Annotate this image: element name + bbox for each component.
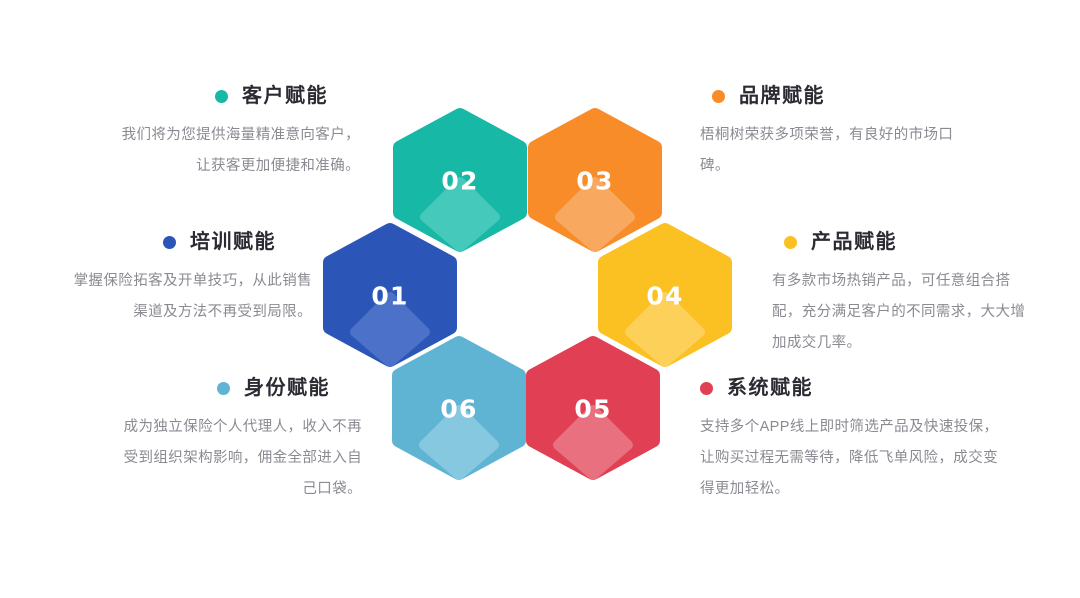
bullet-dot-icon-04 xyxy=(784,236,797,249)
hexagon-06[interactable]: 06 xyxy=(399,343,519,475)
bullet-dot-icon-03 xyxy=(712,90,725,103)
hexagon-01[interactable]: 01 xyxy=(330,230,450,362)
item-heading-05: 系统赋能 xyxy=(700,378,1000,398)
item-block-05: 系统赋能 支持多个APP线上即时筛选产品及快速投保，让购买过程无需等待，降低飞单… xyxy=(700,378,1000,505)
item-heading-04: 产品赋能 xyxy=(772,232,1034,252)
hexagon-number-01: 01 xyxy=(371,282,408,311)
item-block-04: 产品赋能 有多款市场热销产品，可任意组合搭配，充分满足客户的不同需求，大大增加成… xyxy=(772,232,1034,359)
hexagon-number-02: 02 xyxy=(441,167,478,196)
item-heading-01: 培训赋能 xyxy=(60,232,312,252)
hexagon-number-05: 05 xyxy=(574,395,611,424)
item-heading-06: 身份赋能 xyxy=(110,378,362,398)
bullet-dot-icon-02 xyxy=(215,90,228,103)
item-description-04: 有多款市场热销产品，可任意组合搭配，充分满足客户的不同需求，大大增加成交几率。 xyxy=(772,266,1034,359)
item-title-04: 产品赋能 xyxy=(811,232,897,252)
item-heading-02: 客户赋能 xyxy=(108,86,360,106)
hexagon-03[interactable]: 03 xyxy=(535,115,655,247)
item-title-02: 客户赋能 xyxy=(242,86,328,106)
bullet-dot-icon-06 xyxy=(217,382,230,395)
item-block-03: 品牌赋能 梧桐树荣获多项荣誉，有良好的市场口碑。 xyxy=(700,86,960,182)
item-block-02: 客户赋能 我们将为您提供海量精准意向客户，让获客更加便捷和准确。 xyxy=(108,86,360,182)
bullet-dot-icon-05 xyxy=(700,382,713,395)
infographic-canvas: 010203040506 客户赋能 我们将为您提供海量精准意向客户，让获客更加便… xyxy=(0,0,1080,598)
item-block-06: 身份赋能 成为独立保险个人代理人，收入不再受到组织架构影响，佣金全部进入自己口袋… xyxy=(110,378,362,505)
hexagon-number-03: 03 xyxy=(576,167,613,196)
hexagon-number-04: 04 xyxy=(646,282,683,311)
hexagon-05[interactable]: 05 xyxy=(533,343,653,475)
item-description-06: 成为独立保险个人代理人，收入不再受到组织架构影响，佣金全部进入自己口袋。 xyxy=(110,412,362,505)
item-description-05: 支持多个APP线上即时筛选产品及快速投保，让购买过程无需等待，降低飞单风险，成交… xyxy=(700,412,1000,505)
item-block-01: 培训赋能 掌握保险拓客及开单技巧，从此销售渠道及方法不再受到局限。 xyxy=(60,232,312,328)
hexagon-04[interactable]: 04 xyxy=(605,230,725,362)
item-heading-03: 品牌赋能 xyxy=(700,86,960,106)
item-title-06: 身份赋能 xyxy=(244,378,330,398)
item-description-02: 我们将为您提供海量精准意向客户，让获客更加便捷和准确。 xyxy=(108,120,360,182)
item-title-03: 品牌赋能 xyxy=(739,86,825,106)
bullet-dot-icon-01 xyxy=(163,236,176,249)
hexagon-number-06: 06 xyxy=(440,395,477,424)
item-title-01: 培训赋能 xyxy=(190,232,276,252)
item-description-03: 梧桐树荣获多项荣誉，有良好的市场口碑。 xyxy=(700,120,960,182)
hexagon-02[interactable]: 02 xyxy=(400,115,520,247)
item-description-01: 掌握保险拓客及开单技巧，从此销售渠道及方法不再受到局限。 xyxy=(60,266,312,328)
item-title-05: 系统赋能 xyxy=(727,378,813,398)
